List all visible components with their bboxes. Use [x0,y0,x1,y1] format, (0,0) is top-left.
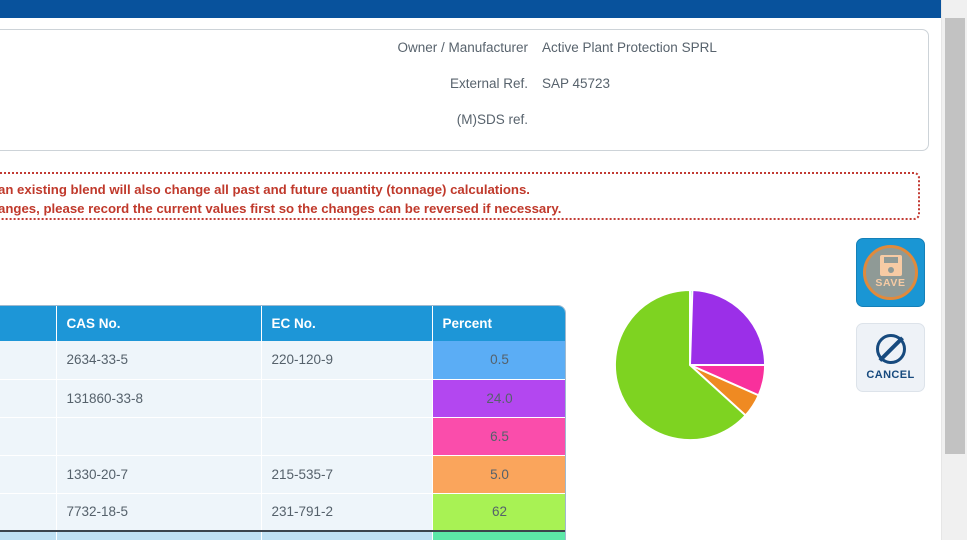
no-entry-icon [876,334,906,364]
table-row[interactable]: 1330-20-7215-535-75.0 [0,455,566,493]
product-details-card: Owner / Manufacturer Active Plant Protec… [0,29,929,151]
blend-change-warning-banner: an existing blend will also change all p… [0,172,920,220]
app-top-bar [0,0,941,18]
cell-ec-no[interactable]: 215-535-7 [261,455,432,493]
cell-cas-no[interactable]: 2634-33-5 [56,341,261,379]
cell-percent[interactable]: 5.0 [432,455,566,493]
table-row[interactable]: 7732-18-5231-791-262 [0,493,566,531]
field-row-owner-manufacturer: Owner / Manufacturer Active Plant Protec… [384,40,904,76]
label-msds-ref: (M)SDS ref. [384,112,542,127]
cell-name[interactable] [0,379,56,417]
cell-name[interactable] [0,341,56,379]
cell-cas-no[interactable] [56,531,261,540]
page-scrollbar-thumb[interactable] [945,18,965,454]
app-root: Owner / Manufacturer Active Plant Protec… [0,0,967,540]
cell-cas-no[interactable] [56,417,261,455]
cell-name[interactable] [0,493,56,531]
label-external-ref: External Ref. [384,76,542,91]
composition-pie-chart[interactable] [611,286,769,444]
cell-percent[interactable]: 0.5 [432,341,566,379]
action-button-group: SAVE CANCEL [856,238,926,392]
cell-percent[interactable]: 6.5 [432,417,566,455]
floppy-disk-icon [880,255,902,276]
table-row[interactable]: 131860-33-824.0 [0,379,566,417]
cell-ec-no[interactable] [261,379,432,417]
cell-percent[interactable] [432,531,566,540]
cancel-button-label: CANCEL [866,369,914,381]
label-owner-manufacturer: Owner / Manufacturer [384,40,542,55]
composition-table: CAS No. EC No. Percent 2634-33-5220-120-… [0,306,566,540]
pie-slice[interactable] [690,290,765,365]
value-owner-manufacturer[interactable]: Active Plant Protection SPRL [542,40,717,55]
table-row[interactable]: 2634-33-5220-120-90.5 [0,341,566,379]
warning-line-2: anges, please record the current values … [0,199,908,218]
details-field-list: Owner / Manufacturer Active Plant Protec… [384,40,904,148]
page-scrollbar[interactable] [941,0,967,540]
column-header-ec-no[interactable]: EC No. [261,306,432,341]
table-row[interactable] [0,531,566,540]
warning-line-1: an existing blend will also change all p… [0,180,908,199]
column-header-name[interactable] [0,306,56,341]
save-button[interactable]: SAVE [856,238,925,307]
cell-ec-no[interactable] [261,417,432,455]
cell-cas-no[interactable]: 1330-20-7 [56,455,261,493]
composition-table-body: 2634-33-5220-120-90.5131860-33-824.06.51… [0,341,566,540]
cell-percent[interactable]: 24.0 [432,379,566,417]
cell-name[interactable] [0,531,56,540]
table-header-row: CAS No. EC No. Percent [0,306,566,341]
column-header-percent[interactable]: Percent [432,306,566,341]
pie-chart-svg [611,286,769,444]
cell-percent[interactable]: 62 [432,493,566,531]
cell-cas-no[interactable]: 131860-33-8 [56,379,261,417]
cell-ec-no[interactable]: 231-791-2 [261,493,432,531]
field-row-external-ref: External Ref. SAP 45723 [384,76,904,112]
table-row[interactable]: 6.5 [0,417,566,455]
cell-ec-no[interactable] [261,531,432,540]
cell-ec-no[interactable]: 220-120-9 [261,341,432,379]
cell-cas-no[interactable]: 7732-18-5 [56,493,261,531]
cell-name[interactable] [0,417,56,455]
field-row-msds-ref: (M)SDS ref. [384,112,904,148]
cancel-button[interactable]: CANCEL [856,323,925,392]
composition-table-panel: CAS No. EC No. Percent 2634-33-5220-120-… [0,305,566,540]
column-header-cas-no[interactable]: CAS No. [56,306,261,341]
cell-name[interactable] [0,455,56,493]
save-button-label: SAVE [875,277,905,289]
save-icon-disc: SAVE [863,245,918,300]
value-external-ref[interactable]: SAP 45723 [542,76,610,91]
